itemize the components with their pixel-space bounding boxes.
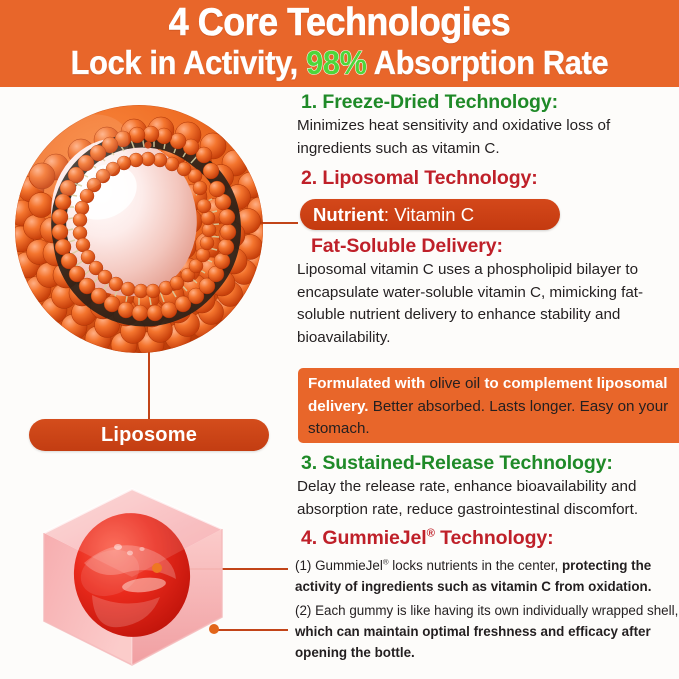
header-subtitle-prefix: Lock in Activity, <box>71 44 306 81</box>
freeze-dried-heading: 1. Freeze-Dried Technology: <box>287 91 679 114</box>
gummiejel-p2-a: (2) Each gummy is like having its own in… <box>295 603 678 618</box>
header-title-line2: Lock in Activity, 98% Absorption Rate <box>24 44 655 82</box>
header-subtitle-suffix: Absorption Rate <box>367 44 609 81</box>
gummiejel-p1-a: (1) GummieJel <box>295 558 383 573</box>
liposome-label-pill: Liposome <box>29 419 269 451</box>
liposomal-heading: 2. Liposomal Technology: <box>287 167 679 190</box>
right-text-column: 1. Freeze-Dried Technology: Minimizes he… <box>287 87 679 679</box>
gummiejel-heading-part1: 4. GummieJel <box>301 527 427 549</box>
fat-soluble-delivery-body: Liposomal vitamin C uses a phospholipid … <box>287 259 679 349</box>
liposome-cutaway-illustration <box>8 97 270 365</box>
nutrient-pill-value: : Vitamin C <box>384 204 474 225</box>
nutrient-vitamin-c-pill: Nutrient: Vitamin C <box>300 199 560 230</box>
header-banner: 4 Core Technologies Lock in Activity, 98… <box>0 0 679 87</box>
freeze-dried-body: Minimizes heat sensitivity and oxidative… <box>287 115 675 160</box>
olive-box-olive-oil: olive oil <box>430 375 481 392</box>
sustained-release-heading: 3. Sustained-Release Technology: <box>287 452 679 475</box>
gummiejel-p1-b: locks nutrients in the center, <box>389 558 562 573</box>
infographic-page: 4 Core Technologies Lock in Activity, 98… <box>0 0 679 679</box>
olive-oil-callout-box: Formulated with olive oil to complement … <box>298 368 679 443</box>
fat-soluble-delivery-heading: Fat-Soluble Delivery: <box>287 235 679 258</box>
nutrient-pill-key: Nutrient <box>313 204 384 225</box>
gummiejel-point-1: (1) GummieJel® locks nutrients in the ce… <box>287 555 679 597</box>
gummy-cube-cross-section-illustration <box>14 477 258 667</box>
gel-anchor-dot <box>152 563 162 573</box>
gummiejel-heading: 4. GummieJel® Technology: <box>287 527 679 550</box>
shell-anchor-dot <box>209 624 219 634</box>
olive-box-segment-1: Formulated with <box>308 375 430 392</box>
header-title-line1: 4 Core Technologies <box>27 2 652 44</box>
gummiejel-heading-part2: Technology: <box>435 527 554 549</box>
registered-trademark-icon: ® <box>427 528 435 540</box>
header-absorption-percent: 98% <box>306 44 367 81</box>
sustained-release-body: Delay the release rate, enhance bioavail… <box>287 476 677 521</box>
left-illustration-column: Liposome <box>0 87 287 679</box>
gummiejel-p2-bold: which can maintain optimal freshness and… <box>295 624 651 660</box>
gummiejel-point-2: (2) Each gummy is like having its own in… <box>287 600 679 663</box>
core-anchor-dot <box>144 141 151 148</box>
